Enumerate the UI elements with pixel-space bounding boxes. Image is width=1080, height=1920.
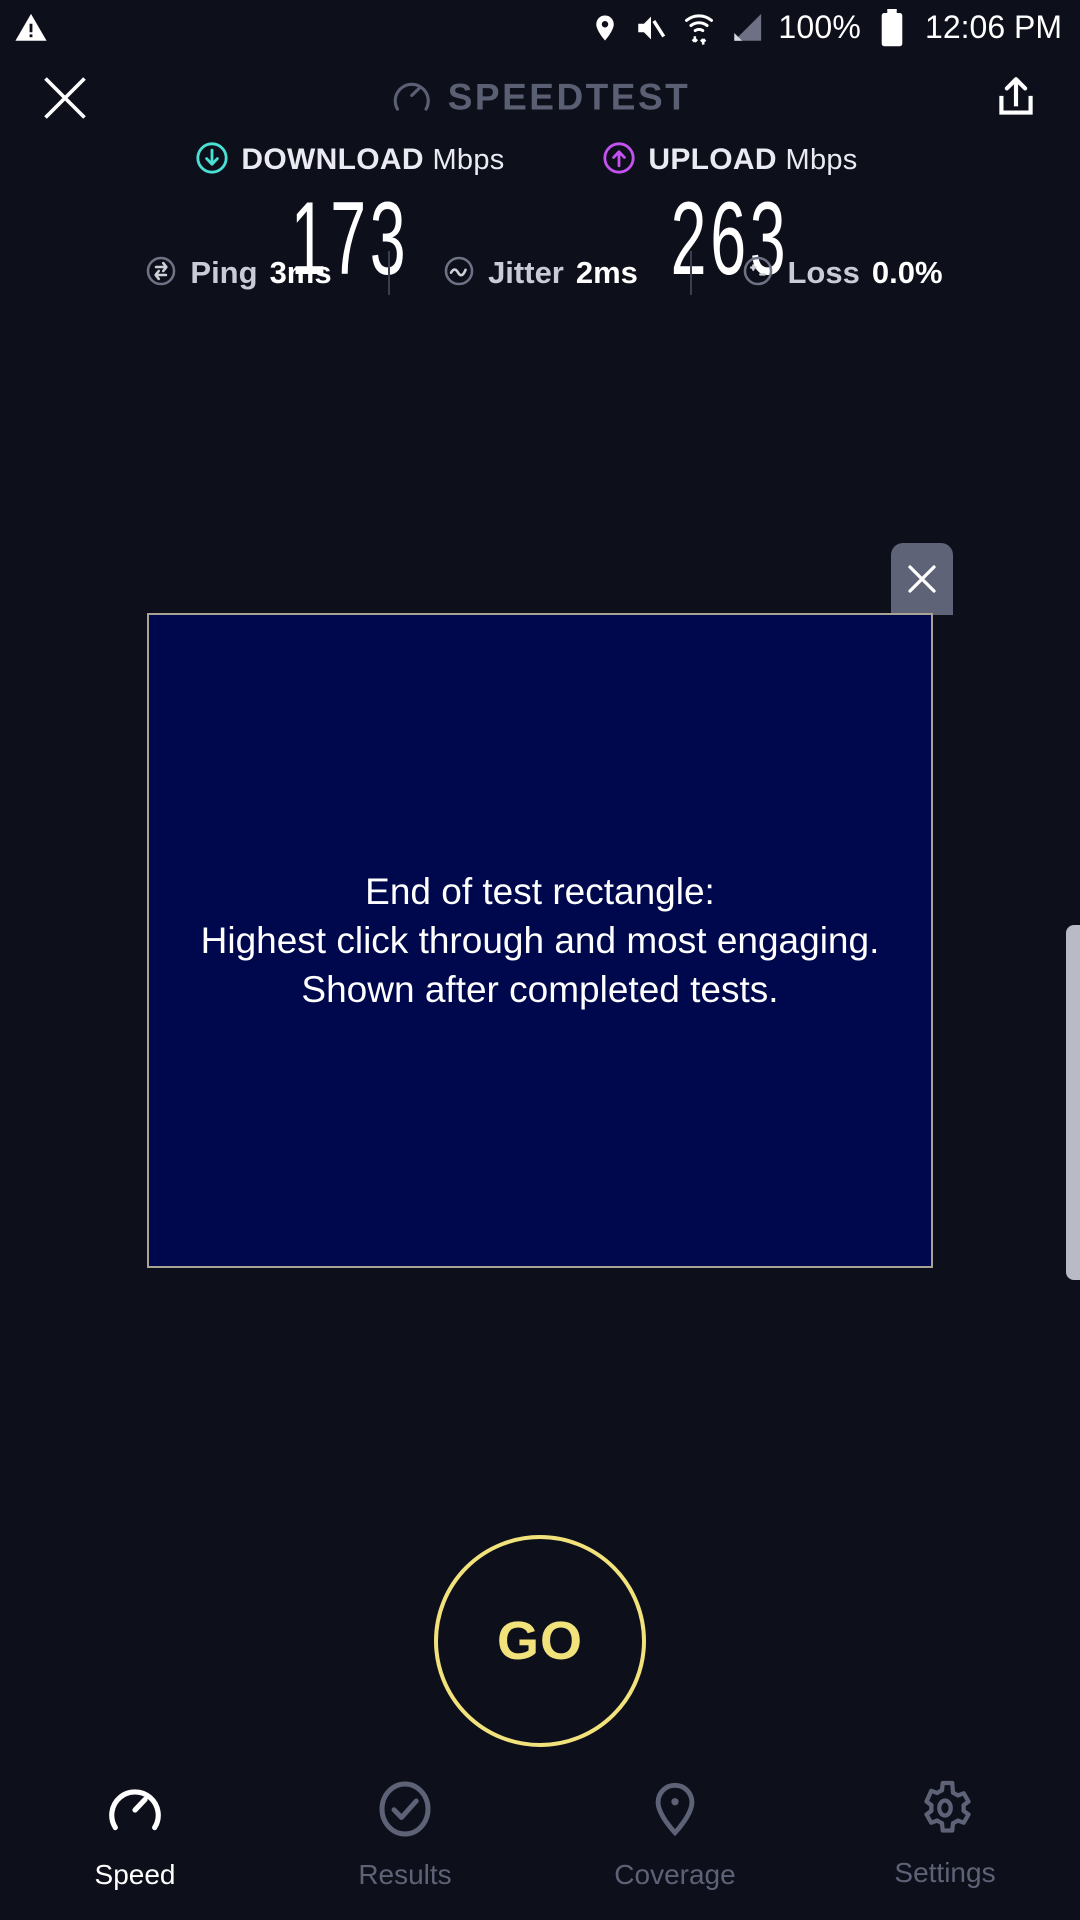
ad-close-icon[interactable] xyxy=(891,543,953,615)
close-icon[interactable] xyxy=(30,63,100,133)
nav-item-settings[interactable]: Settings xyxy=(810,1778,1080,1889)
speedometer-icon xyxy=(390,73,434,122)
page-title: SPEEDTEST xyxy=(448,77,691,119)
ping-label: Ping xyxy=(190,255,257,291)
download-unit: Mbps xyxy=(432,144,504,176)
ping-jitter-loss-row: Ping 3ms Jitter 2ms Loss 0.0% xyxy=(0,243,1080,303)
status-bar: 100% 12:06 PM xyxy=(0,0,1080,55)
app-header: SPEEDTEST xyxy=(0,55,1080,140)
cellular-signal-icon xyxy=(730,12,764,44)
speedometer-icon xyxy=(104,1778,166,1845)
check-circle-icon xyxy=(375,1778,435,1845)
bottom-navigation: Speed Results Coverage Settings xyxy=(0,1770,1080,1920)
jitter-value: 2ms xyxy=(576,255,638,291)
arrow-down-circle-icon xyxy=(195,141,229,180)
loss-value: 0.0% xyxy=(872,255,943,291)
ad-line-1: End of test rectangle: xyxy=(201,867,880,916)
nav-label-coverage: Coverage xyxy=(614,1859,735,1891)
volume-mute-icon xyxy=(634,11,668,45)
nav-label-settings: Settings xyxy=(894,1857,995,1889)
advertisement: End of test rectangle: Highest click thr… xyxy=(147,613,933,1268)
upload-unit: Mbps xyxy=(785,144,857,176)
wifi-icon xyxy=(682,10,716,46)
download-label: DOWNLOAD xyxy=(241,143,423,176)
nav-label-speed: Speed xyxy=(95,1859,176,1891)
battery-percent-label: 100% xyxy=(778,9,861,46)
jitter-metric: Jitter 2ms xyxy=(390,254,690,293)
app-brand: SPEEDTEST xyxy=(390,73,691,122)
ad-banner[interactable]: End of test rectangle: Highest click thr… xyxy=(147,613,933,1268)
nav-item-speed[interactable]: Speed xyxy=(0,1778,270,1891)
ping-value: 3ms xyxy=(270,255,332,291)
battery-full-icon xyxy=(879,9,905,47)
warning-triangle-icon xyxy=(14,11,48,45)
scrollbar[interactable] xyxy=(1066,760,1080,1320)
clock-label: 12:06 PM xyxy=(925,9,1062,46)
ad-line-2: Highest click through and most engaging. xyxy=(201,916,880,965)
arrow-up-circle-icon xyxy=(602,141,636,180)
location-icon xyxy=(590,11,620,45)
upload-label: UPLOAD xyxy=(648,143,776,176)
share-icon[interactable] xyxy=(984,66,1048,130)
jitter-icon xyxy=(442,254,476,293)
scrollbar-thumb[interactable] xyxy=(1066,925,1080,1280)
ping-icon xyxy=(144,254,178,293)
loss-icon xyxy=(741,254,775,293)
go-button[interactable]: GO xyxy=(434,1535,646,1747)
gear-icon xyxy=(915,1778,975,1843)
map-pin-icon xyxy=(646,1778,704,1845)
nav-item-coverage[interactable]: Coverage xyxy=(540,1778,810,1891)
loss-label: Loss xyxy=(787,255,859,291)
loss-metric: Loss 0.0% xyxy=(692,254,992,293)
nav-label-results: Results xyxy=(358,1859,451,1891)
nav-item-results[interactable]: Results xyxy=(270,1778,540,1891)
jitter-label: Jitter xyxy=(488,255,564,291)
ping-metric: Ping 3ms xyxy=(88,254,388,293)
ad-line-3: Shown after completed tests. xyxy=(201,965,880,1014)
go-button-label: GO xyxy=(497,1610,583,1672)
